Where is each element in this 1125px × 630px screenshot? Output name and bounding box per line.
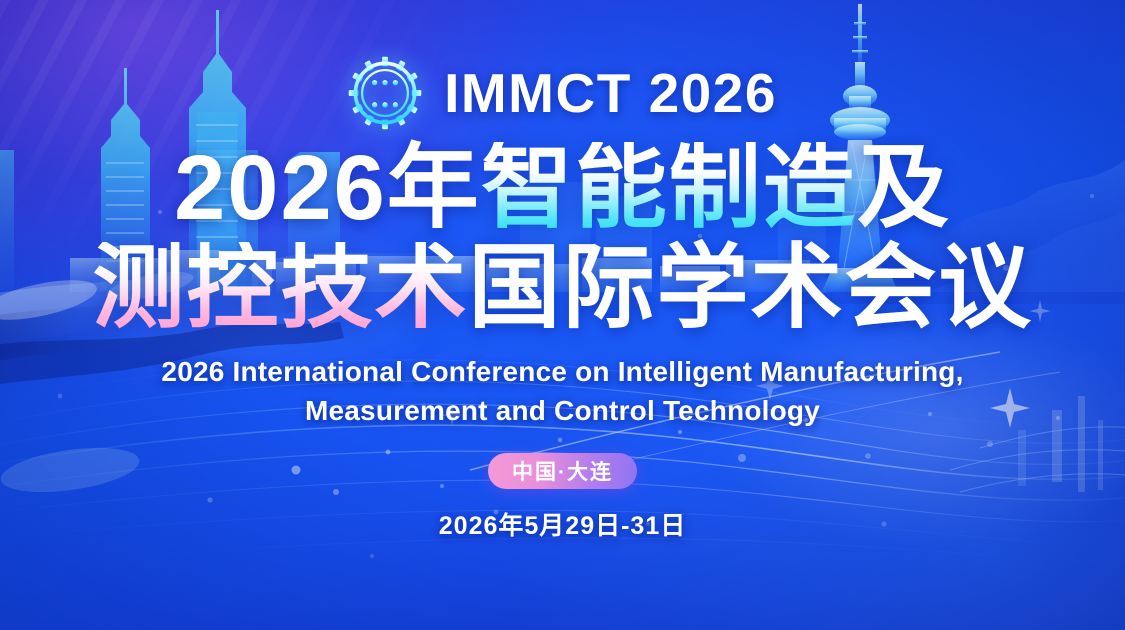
title-cn-highlight-cyan: 智能制造 — [481, 142, 857, 236]
title-cn-year: 2026年 — [174, 142, 481, 236]
gear-circuit-logo-icon — [348, 56, 422, 130]
title-en-line-1: 2026 International Conference on Intelli… — [161, 352, 963, 392]
title-cn-conjunction: 及 — [857, 142, 951, 236]
title-en-line-2: Measurement and Control Technology — [161, 391, 963, 431]
brand-row: IMMCT 2026 — [348, 56, 777, 130]
conference-banner: IMMCT 2026 2026年智能制造及 测控技术国际学术会议 2026 In… — [0, 0, 1125, 630]
title-cn-suffix: 国际学术会议 — [469, 242, 1033, 336]
conference-title-cn: 2026年智能制造及 测控技术国际学术会议 — [92, 134, 1032, 336]
location-badge: 中国·大连 — [488, 453, 637, 489]
title-cn-line-2: 测控技术国际学术会议 — [92, 242, 1032, 336]
title-cn-highlight-pink: 测控技术 — [92, 242, 468, 336]
title-cn-line-1: 2026年智能制造及 — [92, 142, 1032, 236]
banner-content: IMMCT 2026 2026年智能制造及 测控技术国际学术会议 2026 In… — [0, 0, 1125, 630]
conference-date: 2026年5月29日-31日 — [439, 506, 686, 542]
conference-acronym: IMMCT 2026 — [444, 66, 777, 121]
conference-title-en: 2026 International Conference on Intelli… — [161, 352, 963, 432]
